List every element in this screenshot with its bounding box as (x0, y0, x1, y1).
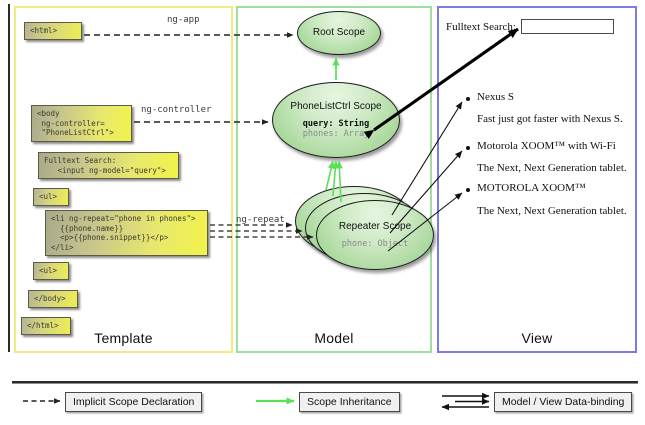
panel-label-template: Template (14, 330, 233, 346)
code-box-search-markup: Fulltext Search: <input ng-model="query"… (38, 152, 179, 179)
code-box-li-repeat: <li ng-repeat="phone in phones"> {{phone… (45, 210, 208, 256)
panel-label-view: View (437, 330, 637, 346)
legend-item-model-view-data-binding: Model / View Data-binding (494, 392, 632, 412)
scope-repeater: Repeater Scope phone: Object (316, 200, 434, 270)
legend-item-scope-inheritance: Scope Inheritance (299, 392, 400, 412)
scope-phonelistctrl: PhoneListCtrl Scope query: String phones… (272, 82, 400, 158)
scope-phonelistctrl-title: PhoneListCtrl Scope (290, 101, 381, 113)
diagram-canvas: <html> <body ng-controller= "PhoneListCt… (0, 0, 645, 425)
panel-model (236, 6, 432, 353)
view-search-label: Fulltext Search: (446, 21, 516, 33)
code-box-body-close: </body> (28, 290, 78, 308)
panel-view (437, 6, 637, 353)
view-item-name: Motorola XOOM™ with Wi-Fi (477, 140, 616, 152)
code-box-body-open: <body ng-controller= "PhoneListCtrl"> (31, 105, 132, 142)
list-bullet (466, 146, 470, 150)
scope-phonelistctrl-props: query: String phones: Array (303, 119, 370, 139)
scope-prop-phone: phone: Object (342, 239, 409, 249)
view-item-snippet: Fast just got faster with Nexus S. (477, 113, 623, 125)
code-box-html-open: <html> (24, 22, 82, 40)
edge-label-ng-app: ng-app (167, 15, 200, 25)
fulltext-search-input[interactable] (521, 19, 614, 34)
scope-repeater-title: Repeater Scope (339, 221, 411, 233)
view-item-name: Nexus S (477, 91, 514, 103)
view-item-snippet: The Next, Next Generation tablet. (477, 205, 627, 217)
list-bullet (466, 97, 470, 101)
scope-root-title: Root Scope (313, 27, 365, 39)
legend-item-implicit-scope-declaration: Implicit Scope Declaration (65, 392, 202, 412)
list-bullet (466, 188, 470, 192)
edge-label-ng-repeat: ng-repeat (236, 215, 285, 225)
legend-divider-shadow (12, 383, 638, 384)
frame-left-rule (8, 4, 10, 352)
panel-label-model: Model (236, 330, 432, 346)
edge-label-ng-controller: ng-controller (141, 105, 211, 115)
scope-prop-phones: phones: Array (303, 129, 370, 139)
view-item-name: MOTOROLA XOOM™ (477, 182, 586, 194)
view-item-snippet: The Next, Next Generation tablet. (477, 162, 627, 174)
scope-repeater-props: phone: Object (342, 239, 409, 249)
scope-prop-query: query: String (303, 119, 370, 129)
scope-root: Root Scope (297, 11, 381, 55)
code-box-ul-open: <ul> (33, 188, 69, 206)
code-box-ul-close: <ul> (33, 262, 69, 280)
